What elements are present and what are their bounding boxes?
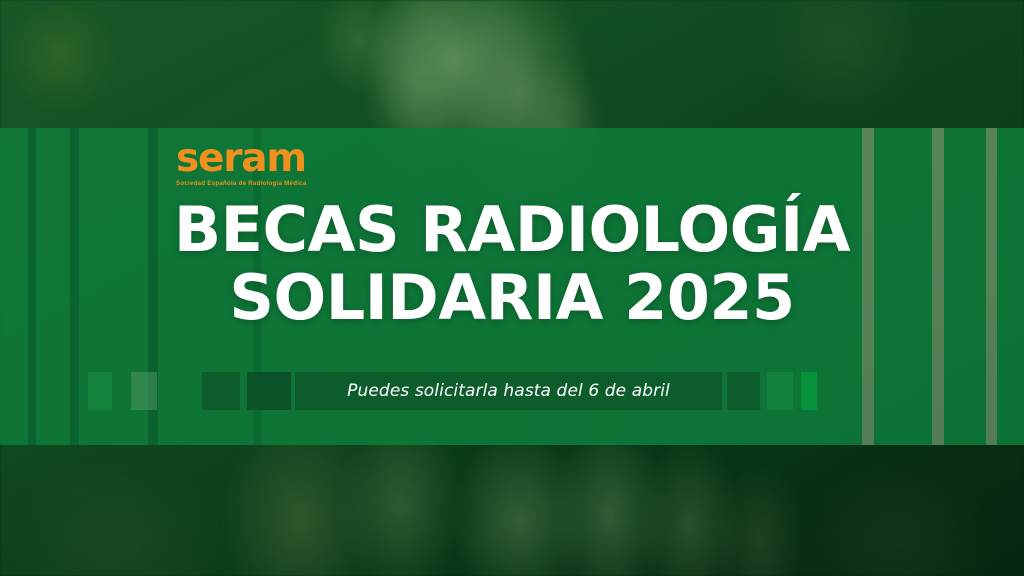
headline-line-2: SOLIDARIA 2025 [0,264,1024,332]
subtitle-text: Puedes solicitarla hasta del 6 de abril [295,372,722,410]
logo-wordmark: seram [176,139,366,178]
decor-block-right-2 [727,372,760,410]
logo-tagline: Sociedad Española de Radiología Médica [176,180,366,187]
decor-block-left-2 [131,372,157,410]
headline-line-1: BECAS RADIOLOGÍA [174,193,850,266]
decor-block-left-4 [247,372,291,410]
seram-logo: seram Sociedad Española de Radiología Mé… [176,139,366,187]
decor-block-left-3 [202,372,240,410]
decor-block-left-1 [88,372,112,410]
decor-block-right-4 [801,372,817,410]
decor-block-right-3 [767,372,793,410]
page-title: BECAS RADIOLOGÍA SOLIDARIA 2025 [0,196,1024,332]
promo-banner: seram Sociedad Española de Radiología Mé… [0,0,1024,576]
